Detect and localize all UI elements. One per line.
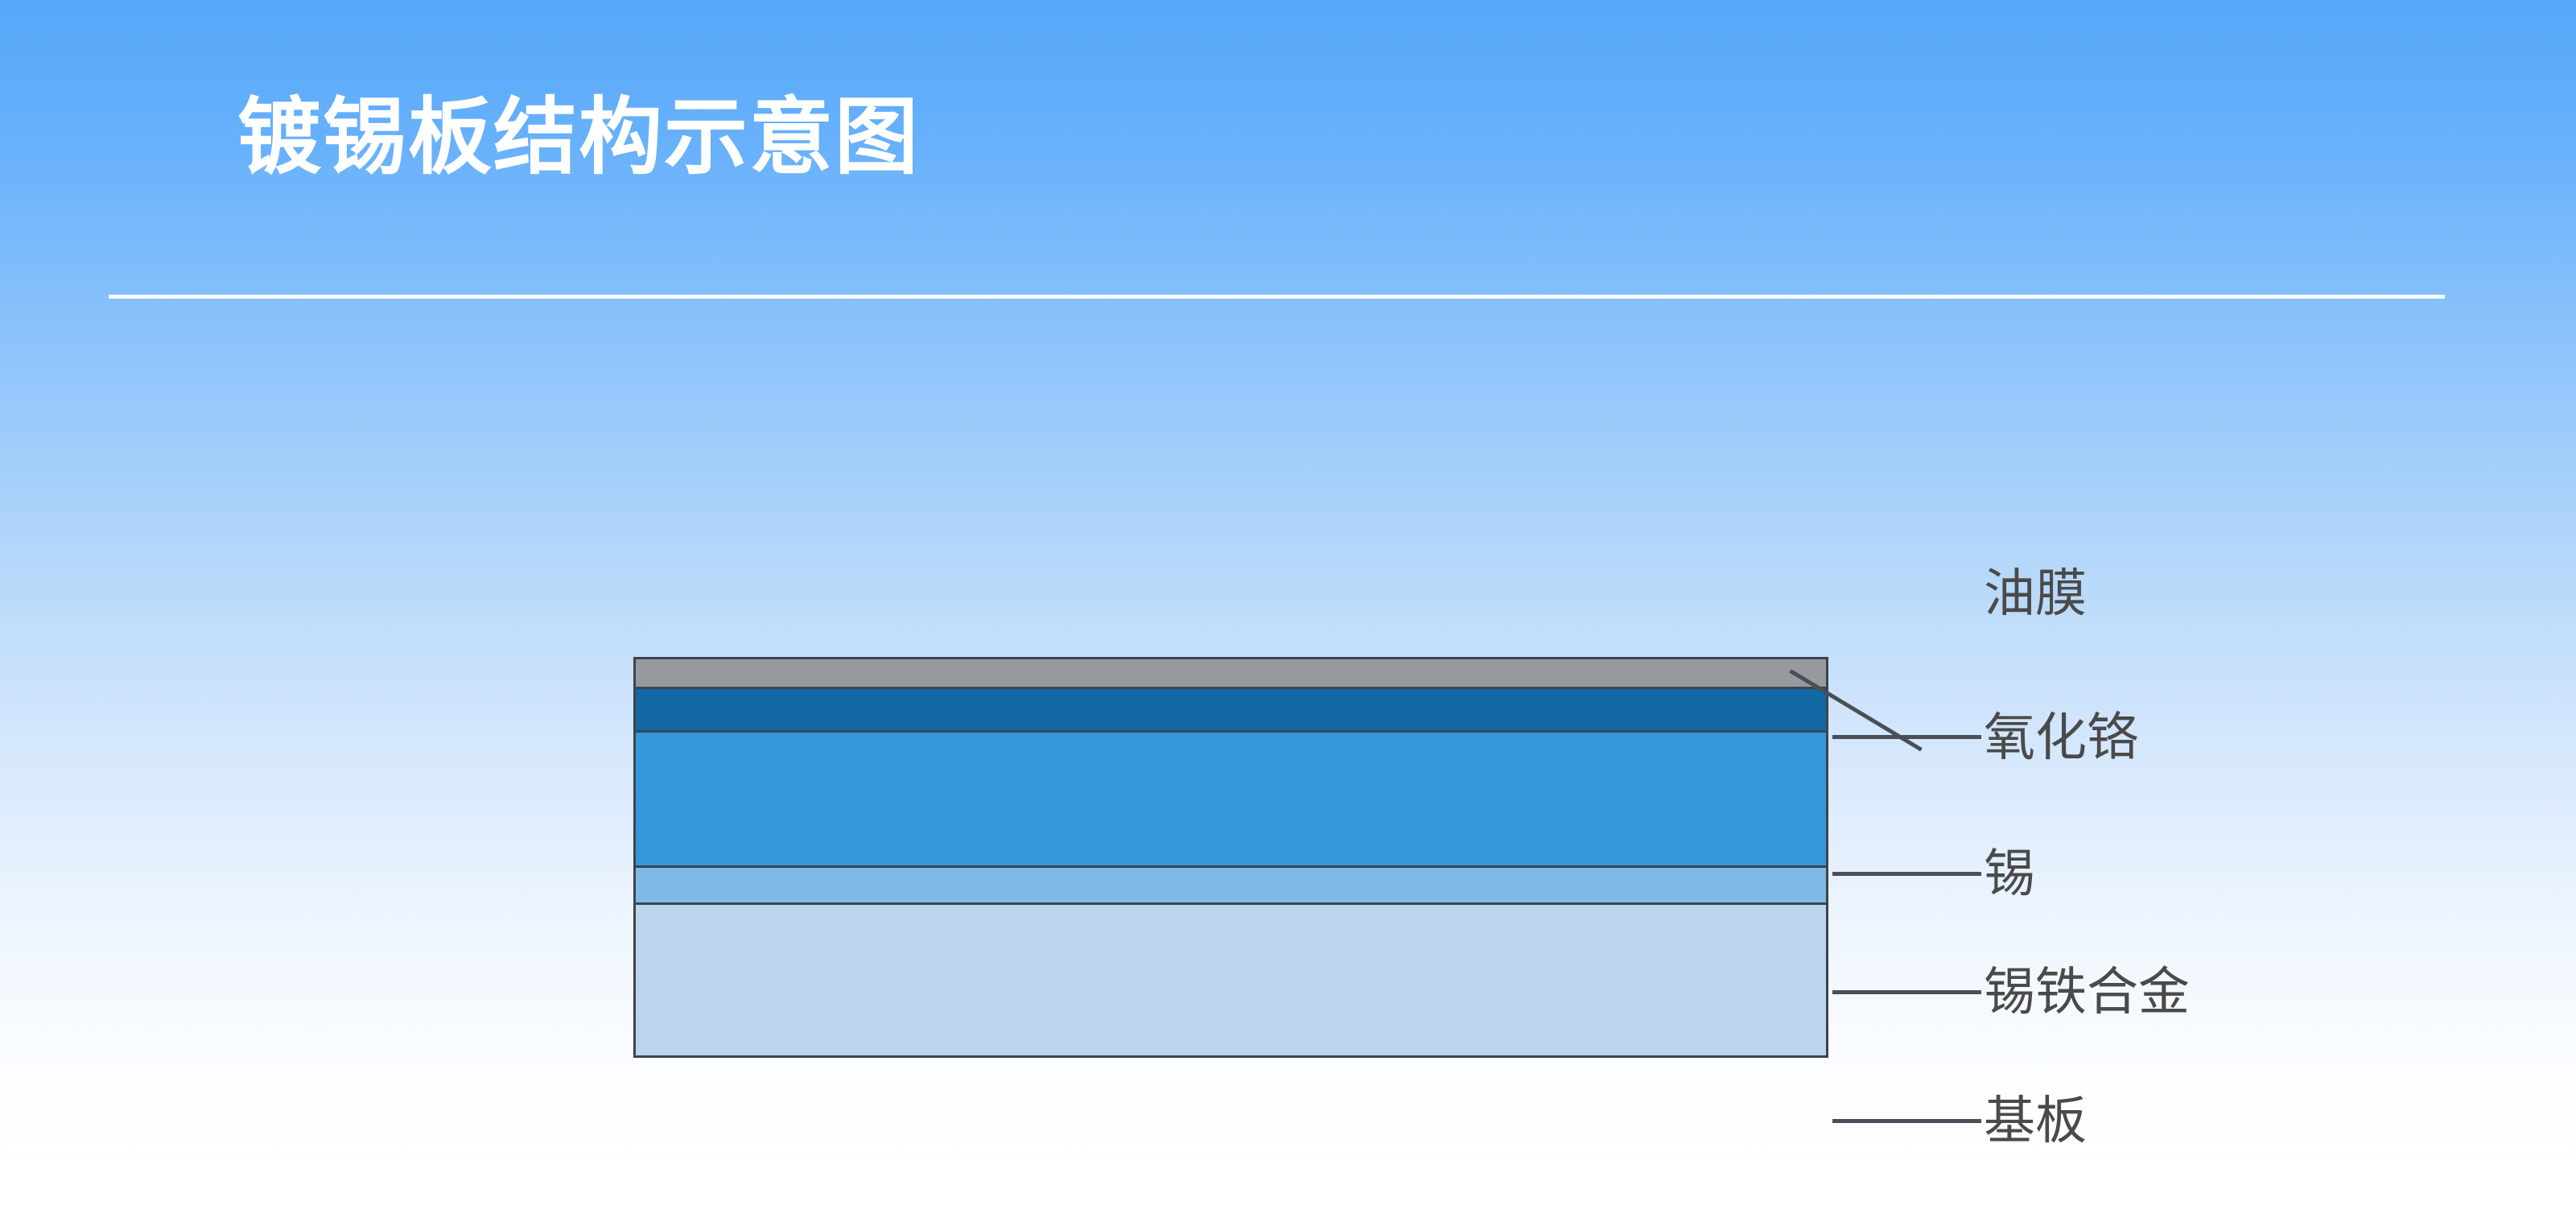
layer-substrate[interactable] bbox=[636, 905, 1826, 1055]
leader-line-chromium-oxide bbox=[1832, 735, 1981, 739]
leader-line-substrate bbox=[1832, 1119, 1981, 1123]
leader-line-tin-iron-alloy bbox=[1832, 990, 1981, 994]
page-title: 镀锡板结构示意图 bbox=[237, 90, 920, 187]
label-substrate: 基板 bbox=[1984, 1095, 2087, 1146]
slide-canvas: 镀锡板结构示意图 油膜 氧化铬 锡 锡铁合金 基板 bbox=[0, 0, 2576, 1214]
layer-chromium-oxide[interactable] bbox=[636, 689, 1826, 733]
label-tin-iron-alloy: 锡铁合金 bbox=[1984, 966, 2190, 1018]
leader-line-tin bbox=[1832, 872, 1981, 876]
layer-tin[interactable] bbox=[636, 733, 1826, 868]
layer-stack-diagram bbox=[633, 657, 1828, 1058]
layer-oil-film[interactable] bbox=[636, 659, 1826, 689]
label-oil-film: 油膜 bbox=[1984, 568, 2087, 619]
label-chromium-oxide: 氧化铬 bbox=[1984, 712, 2138, 763]
layer-tin-iron-alloy[interactable] bbox=[636, 868, 1826, 905]
title-divider bbox=[109, 295, 2445, 299]
label-tin: 锡 bbox=[1984, 848, 2035, 899]
